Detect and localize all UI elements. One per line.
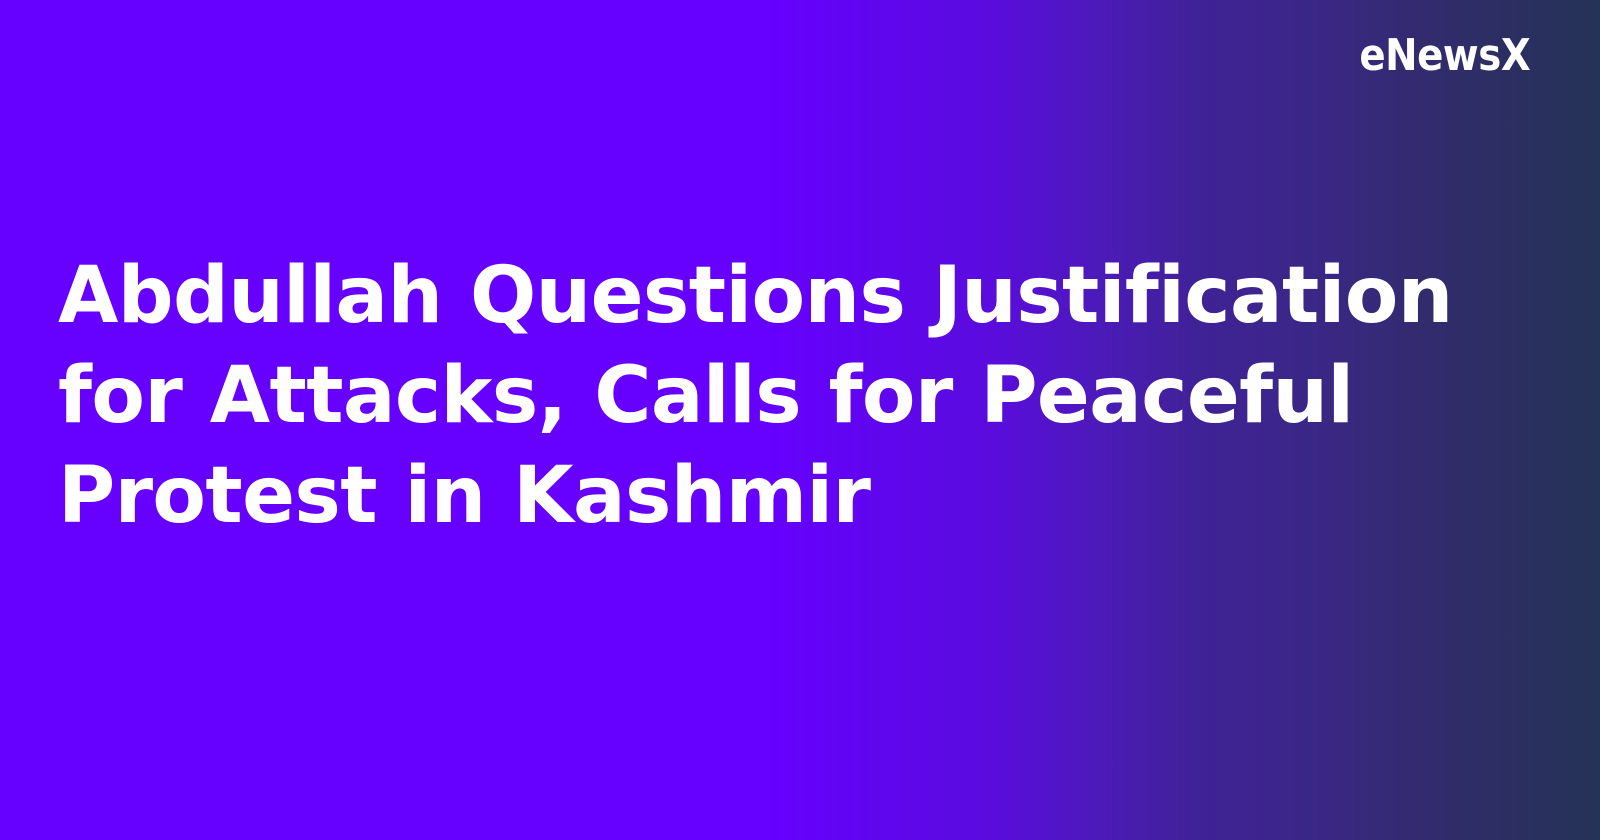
brand-logo[interactable]: eNewsX	[1359, 34, 1530, 78]
brand-bar: eNewsX	[0, 0, 1600, 130]
page-title: Abdullah Questions Justification for Att…	[58, 246, 1470, 546]
news-headline-card: eNewsX Abdullah Questions Justification …	[0, 0, 1600, 840]
headline-block: Abdullah Questions Justification for Att…	[58, 246, 1470, 546]
